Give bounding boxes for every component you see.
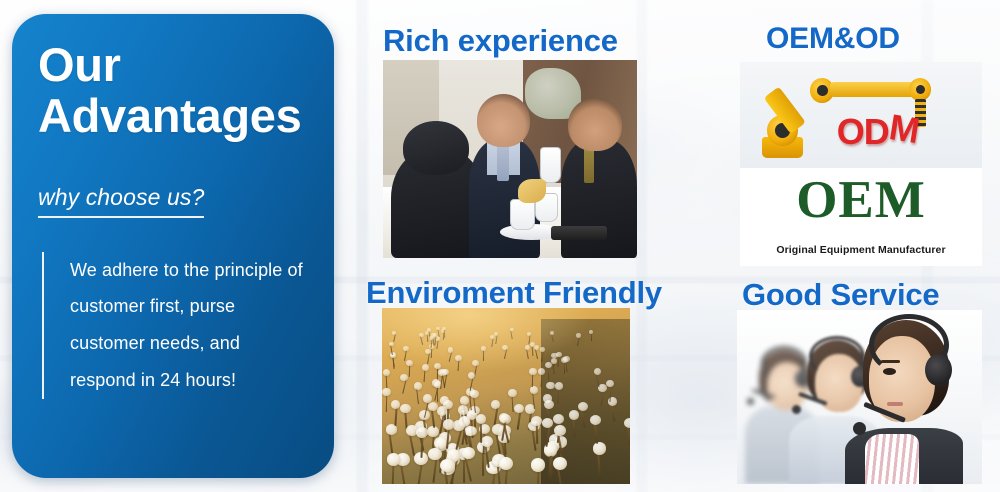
cotton-stem (430, 339, 432, 348)
cotton-stem (392, 357, 394, 369)
cotton-boll (606, 380, 614, 388)
cotton-stem (444, 374, 448, 388)
card-body-wrap: We adhere to the principle of customer f… (38, 252, 314, 400)
cotton-boll (443, 400, 453, 409)
cotton-boll (538, 368, 545, 375)
cotton-stem (497, 464, 502, 484)
cotton-stem (431, 409, 435, 428)
card-body-text: We adhere to the principle of customer f… (44, 252, 314, 400)
cotton-boll (481, 436, 494, 448)
cotton-stem (473, 396, 476, 413)
cotton-stem (504, 467, 509, 484)
cotton-stem (483, 432, 486, 454)
cotton-boll (438, 369, 445, 376)
cotton-stem (408, 364, 410, 377)
cotton-stem (439, 414, 444, 434)
cotton-boll (460, 396, 469, 405)
agent-front-earpiece-icon (925, 354, 952, 386)
meeting-cup-1 (510, 199, 535, 231)
cotton-boll (531, 416, 542, 426)
cotton-boll (439, 432, 451, 443)
cotton-stem (504, 349, 507, 359)
cotton-boll (553, 414, 564, 424)
cotton-boll (528, 421, 539, 432)
cotton-stem (422, 417, 427, 437)
cotton-field-shadow-row (541, 319, 630, 484)
cotton-boll (544, 400, 554, 409)
cotton-stem (470, 418, 473, 438)
cotton-boll (419, 333, 424, 337)
cotton-boll (491, 400, 501, 409)
cotton-boll (476, 414, 487, 424)
cotton-boll (608, 397, 618, 406)
cotton-stem (469, 394, 472, 411)
heading-rich-experience: Rich experience (383, 23, 618, 59)
cotton-stem (449, 459, 458, 484)
cotton-stem (447, 407, 449, 426)
cotton-stem (474, 365, 478, 378)
cotton-stem (495, 432, 501, 454)
cotton-boll (470, 390, 479, 398)
cotton-boll (498, 431, 510, 442)
cotton-field-ground (382, 308, 630, 484)
cotton-boll (428, 448, 442, 460)
cotton-boll (446, 453, 460, 466)
cotton-boll (514, 404, 524, 413)
cotton-stem (449, 351, 453, 362)
cotton-stem (541, 373, 543, 387)
cotton-stem (444, 403, 446, 421)
cotton-stem (550, 388, 552, 404)
cotton-boll (446, 443, 459, 455)
cotton-boll (389, 342, 394, 347)
cotton-stem (386, 395, 388, 412)
cotton-boll (534, 345, 540, 350)
cotton-boll (545, 362, 552, 368)
cotton-stem (390, 345, 393, 355)
cotton-stem (549, 454, 552, 479)
cotton-boll (400, 374, 408, 381)
meeting-person-center-head (477, 94, 530, 147)
cotton-stem (551, 334, 554, 342)
cotton-stem (483, 350, 484, 361)
cotton-boll (542, 418, 553, 428)
odm-wordmark: ODM (837, 111, 918, 153)
advantages-card: Our Advantages why choose us? We adhere … (12, 14, 334, 478)
cotton-boll (416, 427, 428, 438)
cotton-boll (392, 331, 396, 335)
meeting-person-right-body (561, 139, 637, 258)
cotton-stem (535, 349, 538, 359)
heading-oem-odm: OEM&OD (766, 22, 900, 56)
cotton-stem (434, 385, 439, 400)
oem-subtitle: Original Equipment Manufacturer (740, 244, 982, 256)
cotton-stem (532, 392, 535, 409)
cotton-stem (526, 348, 529, 358)
photo-call-center-agents (737, 310, 982, 484)
cotton-boll (433, 333, 438, 337)
cotton-boll (624, 418, 630, 428)
cotton-boll (434, 363, 441, 369)
cotton-boll (553, 457, 567, 470)
cotton-stem (431, 435, 434, 458)
cotton-stem (501, 420, 506, 441)
cotton-stem (424, 369, 426, 382)
cotton-boll (593, 442, 606, 454)
cotton-boll (550, 331, 554, 335)
cotton-stem (462, 424, 468, 445)
cotton-stem (565, 360, 567, 372)
cotton-boll (442, 327, 446, 331)
photo-oem-odm-logo: ODM OEM Original Equipment Manufacturer (740, 62, 982, 266)
cotton-stem (393, 334, 396, 342)
cotton-stem (541, 350, 544, 361)
cotton-stem (547, 407, 552, 426)
meeting-cup-3 (540, 147, 560, 183)
cotton-stem (392, 462, 395, 484)
cotton-stem (549, 453, 552, 478)
photo-cotton-field (382, 308, 630, 484)
cotton-stem (466, 434, 473, 456)
cotton-boll (554, 425, 566, 436)
cotton-stem (438, 446, 442, 470)
cotton-stem (532, 373, 534, 387)
card-title-line2: Advantages (38, 91, 314, 142)
cotton-stem (437, 386, 439, 402)
cotton-boll (500, 414, 511, 424)
cotton-boll (556, 352, 562, 358)
cotton-stem (404, 350, 407, 361)
cotton-boll (427, 426, 439, 437)
robot-arm-wrist-joint-icon (909, 78, 931, 100)
cotton-boll (383, 369, 390, 376)
cotton-boll (594, 368, 601, 375)
cotton-stem (528, 411, 532, 430)
cotton-boll (525, 404, 535, 413)
cotton-stem (425, 401, 430, 419)
agent-far-mic-tip-icon (747, 398, 754, 405)
cotton-boll (598, 384, 607, 392)
oem-wordmark: OEM (740, 174, 982, 227)
odm-wordmark-text: ODM (837, 111, 918, 152)
cotton-stem (610, 404, 615, 422)
cotton-boll (419, 410, 430, 420)
cotton-boll (425, 349, 431, 354)
cotton-boll (455, 355, 461, 361)
cotton-boll (428, 402, 438, 411)
cotton-stem (432, 457, 437, 483)
cotton-boll (469, 406, 479, 415)
cotton-stem (480, 422, 482, 443)
cotton-boll (576, 333, 581, 337)
advantages-banner: Our Advantages why choose us? We adhere … (0, 0, 1000, 492)
cotton-stem (536, 469, 540, 484)
cotton-boll (440, 411, 451, 421)
cotton-boll (530, 386, 539, 394)
cotton-stem (557, 466, 564, 484)
cotton-stem (597, 452, 601, 477)
cotton-stem (557, 433, 563, 455)
cotton-boll (414, 452, 428, 465)
cotton-stem (446, 427, 450, 449)
cotton-stem (442, 419, 449, 439)
cotton-boll (464, 426, 476, 437)
advantages-card-inner: Our Advantages why choose us? We adhere … (12, 14, 334, 478)
cotton-stem (434, 336, 436, 345)
cotton-boll (530, 342, 535, 347)
cotton-stem (558, 356, 560, 367)
card-title-line1: Our (38, 38, 121, 91)
cotton-boll (462, 447, 475, 459)
cotton-stem (461, 412, 465, 431)
cotton-stem (531, 429, 536, 451)
cotton-stem (595, 373, 599, 387)
cotton-stem (431, 348, 433, 358)
cotton-stem (428, 331, 430, 339)
cotton-boll (551, 353, 557, 359)
cotton-boll (440, 459, 454, 472)
cotton-stem (557, 422, 561, 443)
cotton-boll (490, 335, 495, 339)
cotton-stem (550, 450, 555, 475)
cotton-boll (448, 347, 454, 352)
cotton-boll (400, 404, 410, 413)
agent-front-lips (887, 402, 903, 406)
cotton-boll (460, 410, 471, 420)
cotton-boll (422, 364, 429, 370)
agent-front-mic-tip-icon (853, 422, 866, 435)
cotton-boll (440, 369, 447, 376)
cotton-boll (531, 458, 545, 471)
cotton-stem (442, 332, 443, 340)
cotton-stem (627, 425, 630, 446)
cotton-stem (502, 422, 508, 443)
cotton-stem (420, 336, 423, 345)
robot-arm-upper-segment-icon (830, 82, 917, 96)
cotton-stem (440, 375, 443, 389)
cotton-boll (423, 394, 432, 403)
cotton-field-sunset-glow (382, 308, 630, 387)
cotton-boll (540, 347, 546, 352)
cotton-boll (434, 437, 447, 449)
cotton-stem (444, 469, 451, 484)
cotton-boll (432, 379, 440, 387)
cotton-boll (457, 448, 471, 460)
cotton-stem (501, 440, 508, 463)
robot-arm-shoulder-joint-icon (767, 115, 798, 146)
cotton-stem (457, 359, 459, 371)
cotton-boll (443, 419, 454, 429)
cotton-boll (429, 336, 434, 340)
cotton-boll (437, 406, 447, 415)
cotton-boll (406, 425, 418, 436)
cotton-stem (600, 390, 604, 406)
cotton-stem (451, 462, 456, 484)
cotton-stem (409, 434, 415, 456)
cotton-stem (474, 413, 476, 432)
cotton-boll (546, 441, 559, 453)
cotton-stem (441, 374, 444, 388)
cotton-boll (447, 449, 461, 462)
cotton-stem (389, 433, 394, 455)
cotton-stem (437, 329, 439, 337)
cotton-boll (499, 425, 511, 436)
cotton-boll (459, 416, 470, 426)
cotton-stem (462, 403, 466, 421)
heading-good-service: Good Service (742, 277, 939, 313)
cotton-stem (446, 472, 450, 484)
cotton-boll (390, 353, 396, 359)
cotton-boll (578, 402, 588, 411)
cotton-stem (394, 407, 397, 426)
cotton-boll (442, 369, 449, 376)
cotton-boll (546, 382, 554, 390)
cotton-boll (390, 352, 396, 358)
cotton-boll (403, 346, 409, 351)
cotton-stem (464, 418, 466, 438)
cotton-stem (490, 471, 496, 484)
cotton-stem (444, 330, 446, 338)
cotton-boll (510, 328, 514, 332)
cotton-boll (544, 443, 557, 455)
cotton-boll (477, 441, 490, 453)
cotton-boll (468, 372, 476, 379)
cotton-boll (527, 332, 531, 336)
meeting-cup-2 (535, 193, 558, 223)
cotton-boll (466, 388, 475, 396)
heading-enviroment-friendly: Enviroment Friendly (366, 275, 662, 311)
cotton-boll (441, 329, 445, 333)
cotton-boll (492, 454, 506, 467)
cotton-stem (432, 336, 434, 345)
cotton-boll (543, 394, 552, 403)
cotton-stem (491, 338, 493, 347)
cotton-boll (431, 333, 436, 337)
cotton-stem (462, 424, 467, 445)
cotton-stem (470, 377, 474, 391)
meeting-person-right-head (568, 98, 621, 151)
cotton-boll (508, 389, 517, 397)
cotton-stem (546, 401, 549, 419)
cotton-stem (573, 417, 576, 437)
cotton-stem (536, 423, 538, 444)
cotton-boll (499, 457, 513, 470)
cotton-stem (482, 451, 484, 476)
cotton-stem (443, 441, 447, 465)
cotton-stem (416, 388, 419, 404)
cotton-stem (437, 340, 439, 349)
cotton-boll (555, 382, 563, 390)
cotton-boll (494, 332, 498, 336)
cotton-stem (581, 409, 586, 428)
cotton-boll (479, 424, 491, 435)
cotton-boll (453, 420, 464, 430)
cotton-stem (464, 456, 472, 481)
cotton-stem (577, 337, 580, 346)
cotton-stem (564, 362, 565, 374)
cotton-boll (425, 331, 429, 335)
cotton-stem (436, 367, 437, 380)
photo-rich-experience-meeting (383, 60, 637, 258)
cotton-boll (481, 346, 487, 351)
cotton-stem (468, 434, 474, 456)
cotton-stem (548, 367, 550, 380)
cotton-stem (532, 346, 534, 356)
robot-arm-elbow-joint-icon (810, 78, 834, 102)
cotton-boll (382, 388, 391, 396)
cotton-stem (463, 457, 465, 483)
cotton-boll (429, 344, 434, 349)
cotton-stem (386, 374, 388, 388)
cotton-stem (553, 362, 556, 374)
cotton-boll (435, 439, 448, 451)
cotton-boll (459, 416, 470, 426)
cotton-stem (545, 426, 550, 447)
agent-middle-mic-tip-icon (792, 405, 801, 414)
cotton-boll (440, 462, 455, 476)
cotton-stem (427, 353, 430, 364)
cotton-boll (499, 413, 510, 423)
cotton-stem (400, 463, 407, 484)
cotton-boll (435, 336, 440, 340)
cotton-boll (569, 410, 580, 420)
cotton-boll (555, 436, 568, 448)
cotton-stem (591, 333, 592, 341)
cotton-stem (493, 406, 498, 425)
cotton-boll (544, 445, 557, 457)
cotton-boll (434, 381, 442, 389)
card-title: Our Advantages (38, 40, 314, 142)
cotton-boll (551, 358, 557, 364)
cotton-stem (402, 379, 407, 394)
cotton-stem (594, 423, 598, 444)
cotton-boll (415, 421, 426, 432)
cotton-stem (426, 334, 428, 342)
agent-front-striped-shirt (865, 434, 919, 484)
cotton-boll (525, 345, 530, 350)
cotton-boll (396, 453, 410, 466)
robot-arm-lower-segment-icon (764, 87, 806, 134)
cotton-boll (492, 424, 504, 435)
cotton-stem (553, 443, 558, 467)
cotton-boll (549, 434, 561, 445)
cotton-stem (450, 452, 454, 477)
cotton-stem (503, 433, 506, 455)
cotton-boll (406, 360, 413, 366)
cotton-stem (559, 445, 563, 469)
cotton-stem (418, 462, 424, 484)
cotton-boll (502, 345, 507, 350)
cotton-boll (387, 453, 401, 466)
cotton-boll (590, 415, 601, 425)
cotton-boll (563, 356, 569, 362)
cotton-boll (589, 330, 593, 334)
meeting-person-back-head (403, 121, 469, 174)
card-subtitle: why choose us? (38, 184, 204, 218)
cotton-boll (486, 461, 501, 474)
cotton-stem (418, 429, 425, 451)
cotton-stem (420, 435, 423, 458)
cotton-stem (511, 331, 513, 339)
cotton-boll (440, 396, 450, 405)
cotton-boll (427, 328, 431, 332)
cotton-stem (517, 411, 521, 430)
cotton-boll (467, 410, 478, 420)
cotton-boll (529, 368, 536, 375)
cotton-stem (439, 448, 445, 473)
cotton-stem (392, 356, 395, 367)
cotton-boll (391, 400, 401, 409)
